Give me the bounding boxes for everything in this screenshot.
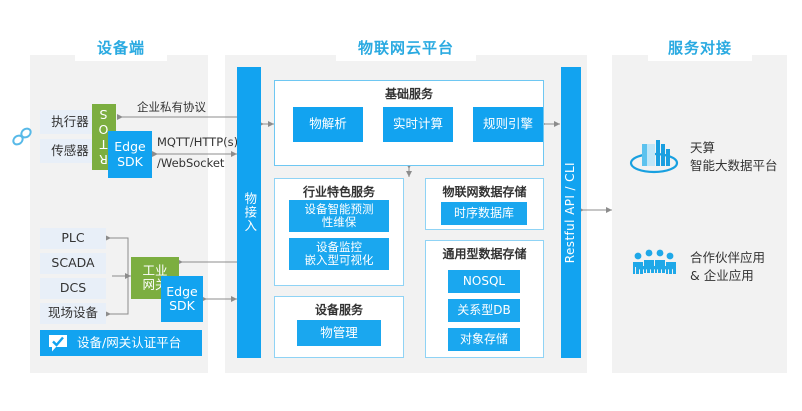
cloud-link-icon bbox=[10, 124, 34, 150]
service-item-bigdata[interactable]: 天算 智能大数据平台 bbox=[628, 135, 778, 179]
bar-restful-api-label: Restful API / CLI bbox=[564, 162, 578, 263]
section-header-service: 服务对接 bbox=[648, 33, 752, 61]
section-header-cloud: 物联网云平台 bbox=[336, 33, 476, 61]
diagram-canvas: 设备端 物联网云平台 服务对接 执行器 传感器 RTOS Edge SDK 企业… bbox=[0, 0, 802, 411]
btn-relational-db[interactable]: 关系型DB bbox=[448, 299, 520, 322]
edge-sdk2-line2: SDK bbox=[169, 299, 195, 313]
edge-sdk-line2: SDK bbox=[117, 155, 143, 169]
partners-line1: 合作伙伴应用 bbox=[690, 249, 765, 267]
section-header-device: 设备端 bbox=[75, 33, 167, 61]
card-industry-services-title: 行业特色服务 bbox=[275, 186, 403, 200]
btn-thing-management[interactable]: 物管理 bbox=[297, 320, 381, 346]
bigdata-line1: 天算 bbox=[690, 139, 778, 157]
label-mqtt-http: MQTT/HTTP(s) bbox=[157, 135, 238, 149]
btn-device-monitoring[interactable]: 设备监控 嵌入型可视化 bbox=[289, 238, 389, 270]
label-websocket: /WebSocket bbox=[157, 156, 224, 170]
card-general-data-storage-title: 通用型数据存储 bbox=[426, 248, 543, 262]
edge-sdk2-line1: Edge bbox=[166, 285, 197, 299]
service-item-bigdata-text: 天算 智能大数据平台 bbox=[690, 139, 778, 175]
bigdata-line2: 智能大数据平台 bbox=[690, 157, 778, 175]
box-plc[interactable]: PLC bbox=[40, 228, 106, 249]
box-scada[interactable]: SCADA bbox=[40, 253, 106, 274]
bar-thing-access-label: 物接入 bbox=[242, 192, 256, 233]
box-actuator[interactable]: 执行器 bbox=[40, 110, 100, 134]
btn-thing-parsing[interactable]: 物解析 bbox=[293, 107, 363, 142]
service-item-partners-text: 合作伙伴应用 & 企业应用 bbox=[690, 249, 765, 285]
edge-sdk-line1: Edge bbox=[114, 140, 145, 154]
box-sensor[interactable]: 传感器 bbox=[40, 139, 100, 163]
bar-thing-access[interactable]: 物接入 bbox=[237, 67, 261, 358]
btn-object-storage[interactable]: 对象存储 bbox=[448, 328, 520, 351]
bar-restful-api-cli[interactable]: Restful API / CLI bbox=[561, 67, 581, 358]
btn-rule-engine[interactable]: 规则引擎 bbox=[473, 107, 543, 142]
btn-timeseries-db[interactable]: 时序数据库 bbox=[441, 202, 527, 225]
partners-line2: & 企业应用 bbox=[690, 267, 765, 285]
box-edge-sdk-gateway[interactable]: Edge SDK bbox=[161, 276, 203, 322]
box-auth-platform[interactable]: 设备/网关认证平台 bbox=[40, 330, 202, 356]
btn-nosql[interactable]: NOSQL bbox=[448, 270, 520, 293]
box-field-device[interactable]: 现场设备 bbox=[40, 303, 106, 324]
box-edge-sdk-device[interactable]: Edge SDK bbox=[108, 131, 152, 178]
card-iot-data-storage-title: 物联网数据存储 bbox=[426, 186, 543, 200]
box-dcs[interactable]: DCS bbox=[40, 278, 106, 299]
btn-predictive-line2: 性维保 bbox=[322, 216, 357, 229]
card-basic-services-title: 基础服务 bbox=[275, 88, 543, 102]
auth-platform-label: 设备/网关认证平台 bbox=[77, 336, 181, 350]
btn-monitor-line2: 嵌入型可视化 bbox=[305, 254, 374, 267]
label-private-protocol: 企业私有协议 bbox=[137, 99, 206, 115]
card-device-services-title: 设备服务 bbox=[275, 304, 403, 318]
check-bubble-icon bbox=[48, 334, 68, 352]
btn-realtime-compute[interactable]: 实时计算 bbox=[383, 107, 453, 142]
btn-predictive-maintenance[interactable]: 设备智能预测 性维保 bbox=[289, 200, 389, 232]
bigdata-building-icon bbox=[628, 135, 680, 179]
partners-meeting-icon bbox=[628, 248, 680, 286]
panel-service-docking bbox=[612, 55, 787, 373]
service-item-partners[interactable]: 合作伙伴应用 & 企业应用 bbox=[628, 248, 765, 286]
